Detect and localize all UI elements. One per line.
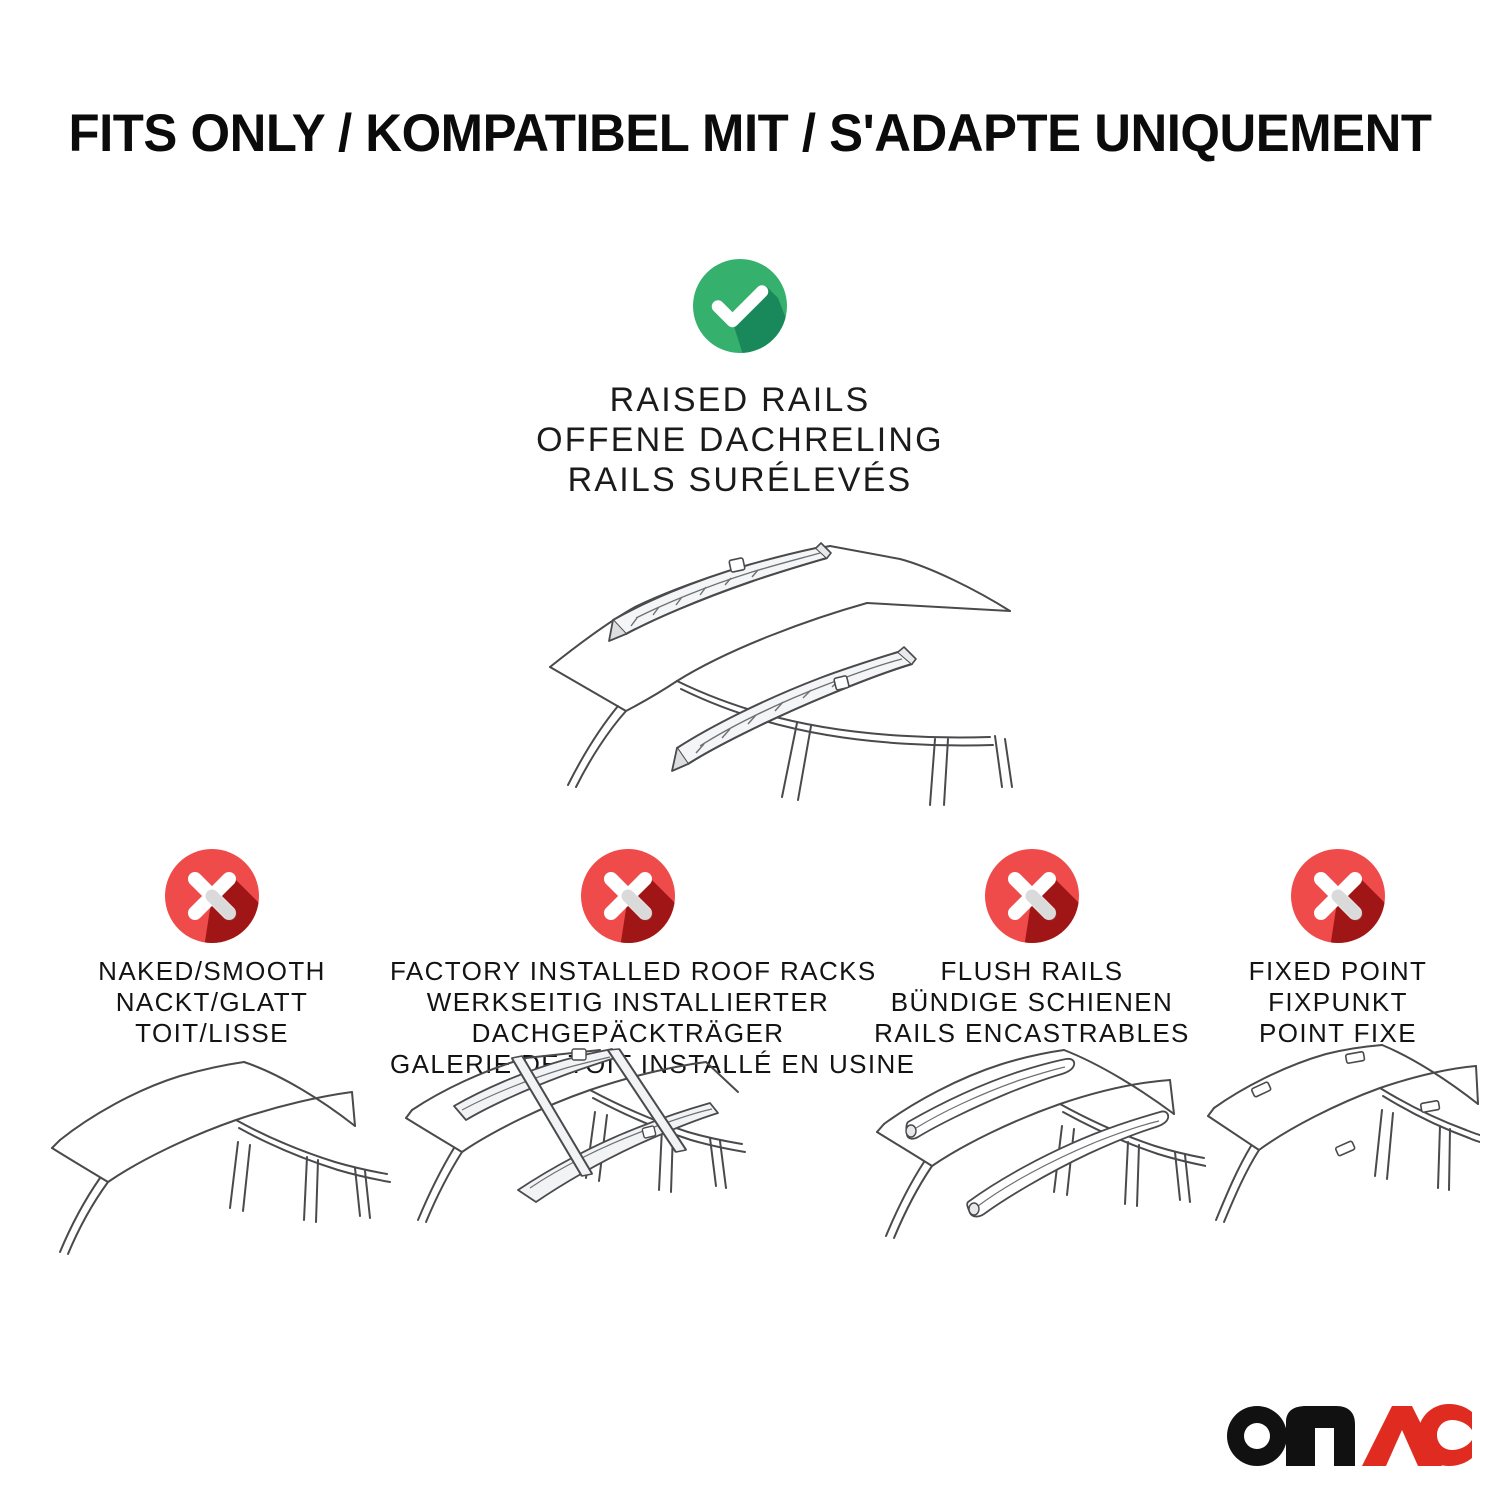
label-line: FLUSH RAILS xyxy=(858,956,1206,987)
compatible-label-line-2: OFFENE DACHRELING xyxy=(390,420,1090,460)
omac-logo-mark xyxy=(1216,1392,1472,1468)
page-title: FITS ONLY / KOMPATIBEL MIT / S'ADAPTE UN… xyxy=(30,104,1470,164)
car-roof-fixed-point-illustration xyxy=(1196,1044,1480,1294)
label-line: NAKED/SMOOTH xyxy=(30,956,394,987)
incompatible-column-fixed-point: FIXED POINT FIXPUNKT POINT FIXE xyxy=(1196,848,1480,1049)
car-roof-flush-rails-illustration xyxy=(858,1044,1206,1294)
car-roof-factory-roof-rack-illustration xyxy=(390,1044,866,1294)
incompatible-column-naked-smooth: NAKED/SMOOTH NACKT/GLATT TOIT/LISSE xyxy=(30,848,394,1049)
incompatible-label-fixed-point: FIXED POINT FIXPUNKT POINT FIXE xyxy=(1196,956,1480,1049)
compatible-block: RAISED RAILS OFFENE DACHRELING RAILS SUR… xyxy=(390,258,1090,500)
cross-circle-icon xyxy=(580,848,676,944)
incompatible-label-flush-rails: FLUSH RAILS BÜNDIGE SCHIENEN RAILS ENCAS… xyxy=(858,956,1206,1049)
incompatible-column-flush-rails: FLUSH RAILS BÜNDIGE SCHIENEN RAILS ENCAS… xyxy=(858,848,1206,1049)
label-line: FACTORY INSTALLED ROOF RACKS xyxy=(390,956,866,987)
cross-circle-icon xyxy=(164,848,260,944)
compatible-label: RAISED RAILS OFFENE DACHRELING RAILS SUR… xyxy=(390,380,1090,500)
label-line: NACKT/GLATT xyxy=(30,987,394,1018)
label-line: FIXPUNKT xyxy=(1196,987,1480,1018)
label-line: FIXED POINT xyxy=(1196,956,1480,987)
label-line: BÜNDIGE SCHIENEN xyxy=(858,987,1206,1018)
check-circle-icon xyxy=(692,258,788,354)
incompatible-column-factory-roof-racks: FACTORY INSTALLED ROOF RACKS WERKSEITIG … xyxy=(390,848,866,1080)
label-line: WERKSEITIG INSTALLIERTER xyxy=(390,987,866,1018)
cross-circle-icon xyxy=(984,848,1080,944)
compatible-label-line-3: RAILS SURÉLEVÉS xyxy=(390,460,1090,500)
car-roof-raised-rails-illustration xyxy=(430,515,1070,825)
incompatible-label-naked-smooth: NAKED/SMOOTH NACKT/GLATT TOIT/LISSE xyxy=(30,956,394,1049)
compatible-label-line-1: RAISED RAILS xyxy=(390,380,1090,420)
omac-logo xyxy=(1216,1392,1472,1468)
car-roof-naked-smooth-illustration xyxy=(30,1044,394,1294)
cross-circle-icon xyxy=(1290,848,1386,944)
